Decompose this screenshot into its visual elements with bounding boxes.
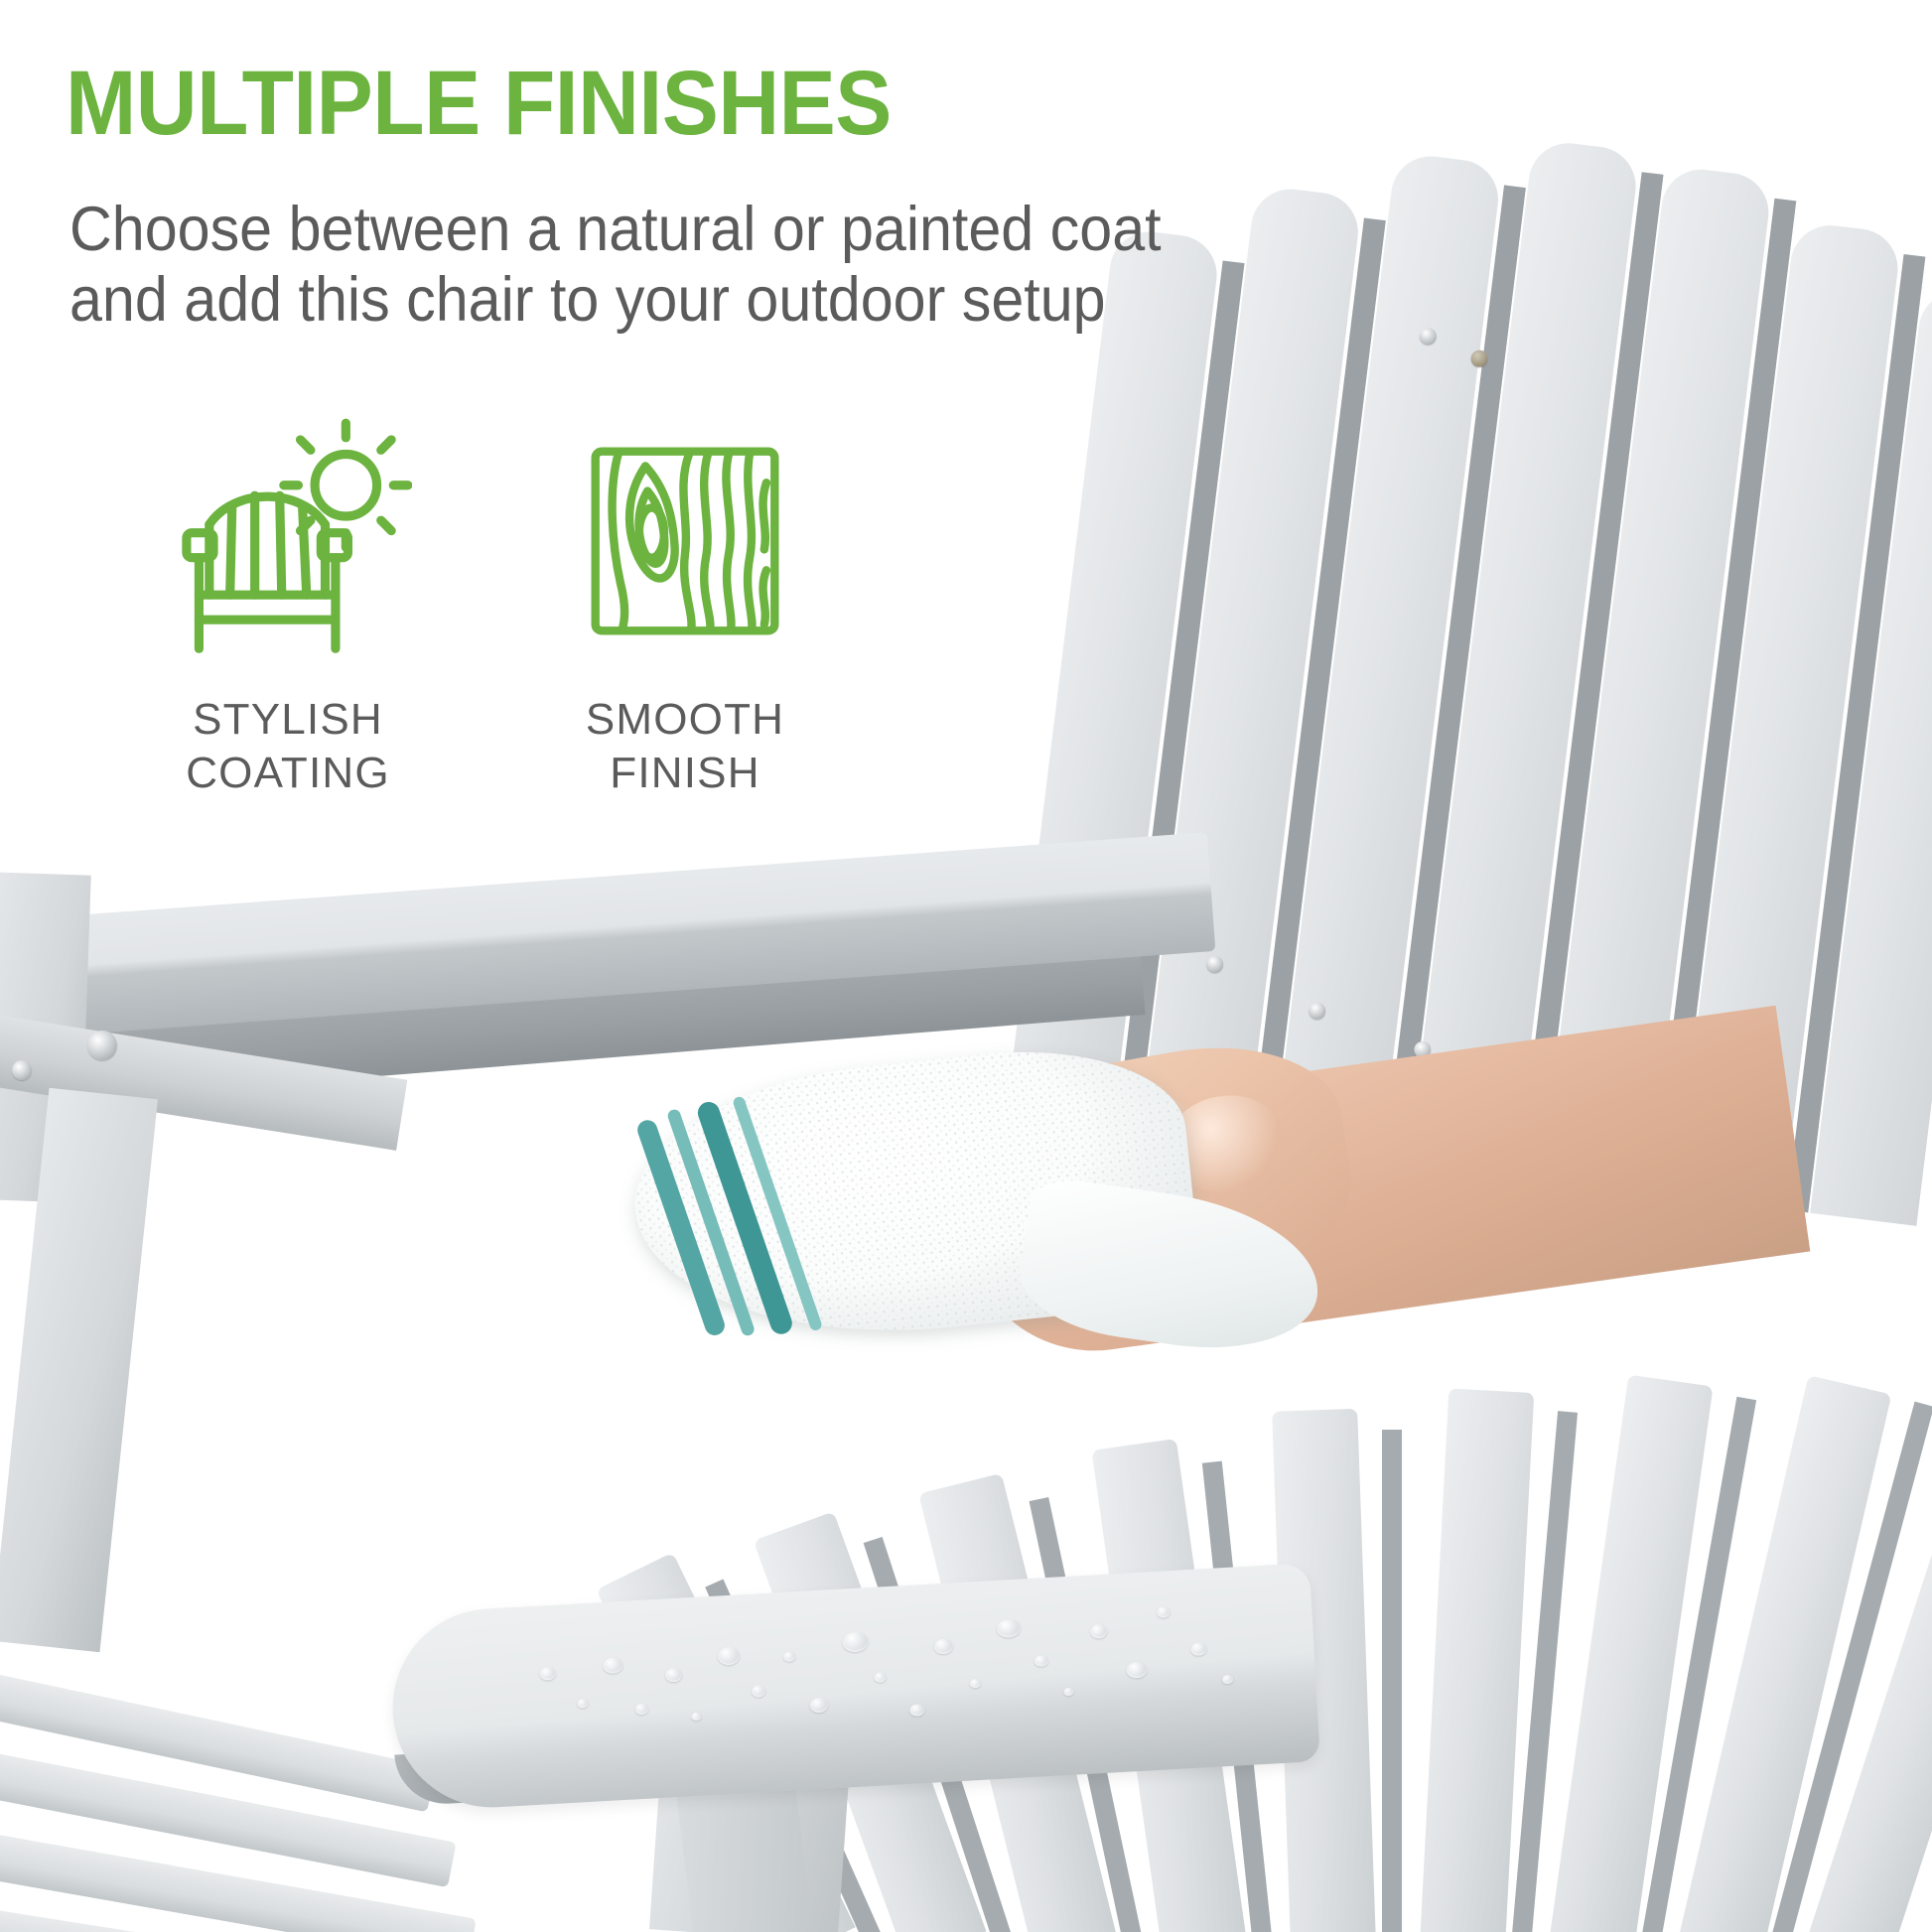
water-droplet bbox=[874, 1672, 887, 1683]
water-droplet bbox=[539, 1667, 556, 1681]
water-droplet bbox=[933, 1638, 953, 1654]
feature-label-line-1: STYLISH bbox=[119, 693, 457, 747]
water-droplet bbox=[752, 1685, 766, 1698]
feature-label-line-2: COATING bbox=[119, 747, 457, 800]
subtitle-line-2: and add this chair to your outdoor setup bbox=[69, 265, 1189, 336]
water-droplet bbox=[842, 1631, 869, 1652]
water-droplet bbox=[909, 1704, 925, 1717]
water-droplet bbox=[691, 1713, 701, 1722]
water-droplet bbox=[1090, 1624, 1108, 1639]
feature-stylish-coating: STYLISH COATING bbox=[119, 407, 457, 799]
water-droplet bbox=[603, 1657, 623, 1674]
feature-label-line-1: SMOOTH bbox=[516, 693, 854, 747]
water-droplet bbox=[1190, 1642, 1207, 1656]
water-droplet bbox=[996, 1619, 1021, 1638]
screw-head bbox=[12, 1060, 32, 1080]
feature-label: STYLISH COATING bbox=[119, 693, 457, 799]
slat bbox=[1549, 1375, 1713, 1932]
hand-with-cloth bbox=[596, 1003, 1787, 1420]
wood-grain-plank-icon bbox=[516, 407, 854, 675]
water-droplet bbox=[577, 1699, 588, 1709]
water-droplet bbox=[635, 1704, 649, 1716]
water-droplet bbox=[665, 1668, 683, 1683]
water-droplet bbox=[810, 1697, 829, 1713]
chair-front-leg-inner bbox=[676, 1780, 812, 1932]
page-title: MULTIPLE FINISHES bbox=[66, 58, 892, 151]
page-subtitle: Choose between a natural or painted coat… bbox=[69, 195, 1189, 336]
subtitle-line-1: Choose between a natural or painted coat bbox=[69, 195, 1189, 265]
water-droplet bbox=[970, 1679, 981, 1689]
screw-head bbox=[87, 1031, 117, 1060]
adirondack-chair-sun-icon bbox=[119, 407, 457, 675]
feature-smooth-finish: SMOOTH FINISH bbox=[516, 407, 854, 799]
water-droplet bbox=[783, 1651, 796, 1662]
water-droplet bbox=[1222, 1675, 1233, 1685]
feature-label-line-2: FINISH bbox=[516, 747, 854, 800]
water-droplet bbox=[1157, 1606, 1171, 1618]
marketing-overlay: MULTIPLE FINISHES Choose between a natur… bbox=[0, 0, 1932, 993]
slat-gap bbox=[1382, 1430, 1402, 1932]
water-droplet bbox=[718, 1646, 741, 1665]
feature-label: SMOOTH FINISH bbox=[516, 693, 854, 799]
water-droplet bbox=[1034, 1655, 1048, 1667]
terry-cloth bbox=[581, 1000, 1247, 1392]
water-droplet bbox=[1063, 1688, 1073, 1697]
water-droplet bbox=[1126, 1661, 1148, 1678]
slat bbox=[1420, 1389, 1534, 1932]
product-feature-image: MULTIPLE FINISHES Choose between a natur… bbox=[0, 0, 1932, 1932]
